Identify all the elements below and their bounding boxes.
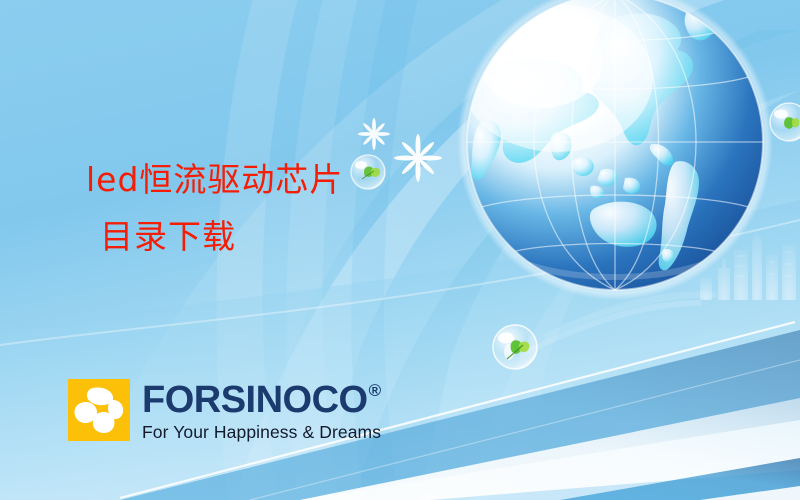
logo-wordmark: FORSINOCO — [142, 381, 368, 419]
registered-trademark-icon: ® — [369, 382, 381, 399]
headline: led恒流驱动芯片 目录下载 — [86, 163, 516, 253]
forsinoco-pinwheel-icon — [68, 379, 130, 441]
company-logo: FORSINOCO ® For Your Happiness & Dreams — [68, 379, 381, 443]
logo-text-block: FORSINOCO ® For Your Happiness & Dreams — [142, 379, 381, 443]
bubble-leaf-right — [770, 103, 800, 141]
city-skyline-silhouette — [520, 233, 796, 358]
headline-line-1: led恒流驱动芯片 — [86, 163, 516, 196]
earth-globe-graphic — [445, 0, 785, 322]
logo-tagline: For Your Happiness & Dreams — [142, 422, 381, 443]
headline-line-2: 目录下载 — [100, 220, 516, 253]
promo-banner: led恒流驱动芯片 目录下载 FORSINOCO ® For Your Happ… — [0, 0, 800, 500]
logo-wordmark-row: FORSINOCO ® — [142, 381, 381, 419]
sparkle-star-small — [358, 118, 390, 150]
bubble-leaf-lower — [493, 325, 537, 369]
